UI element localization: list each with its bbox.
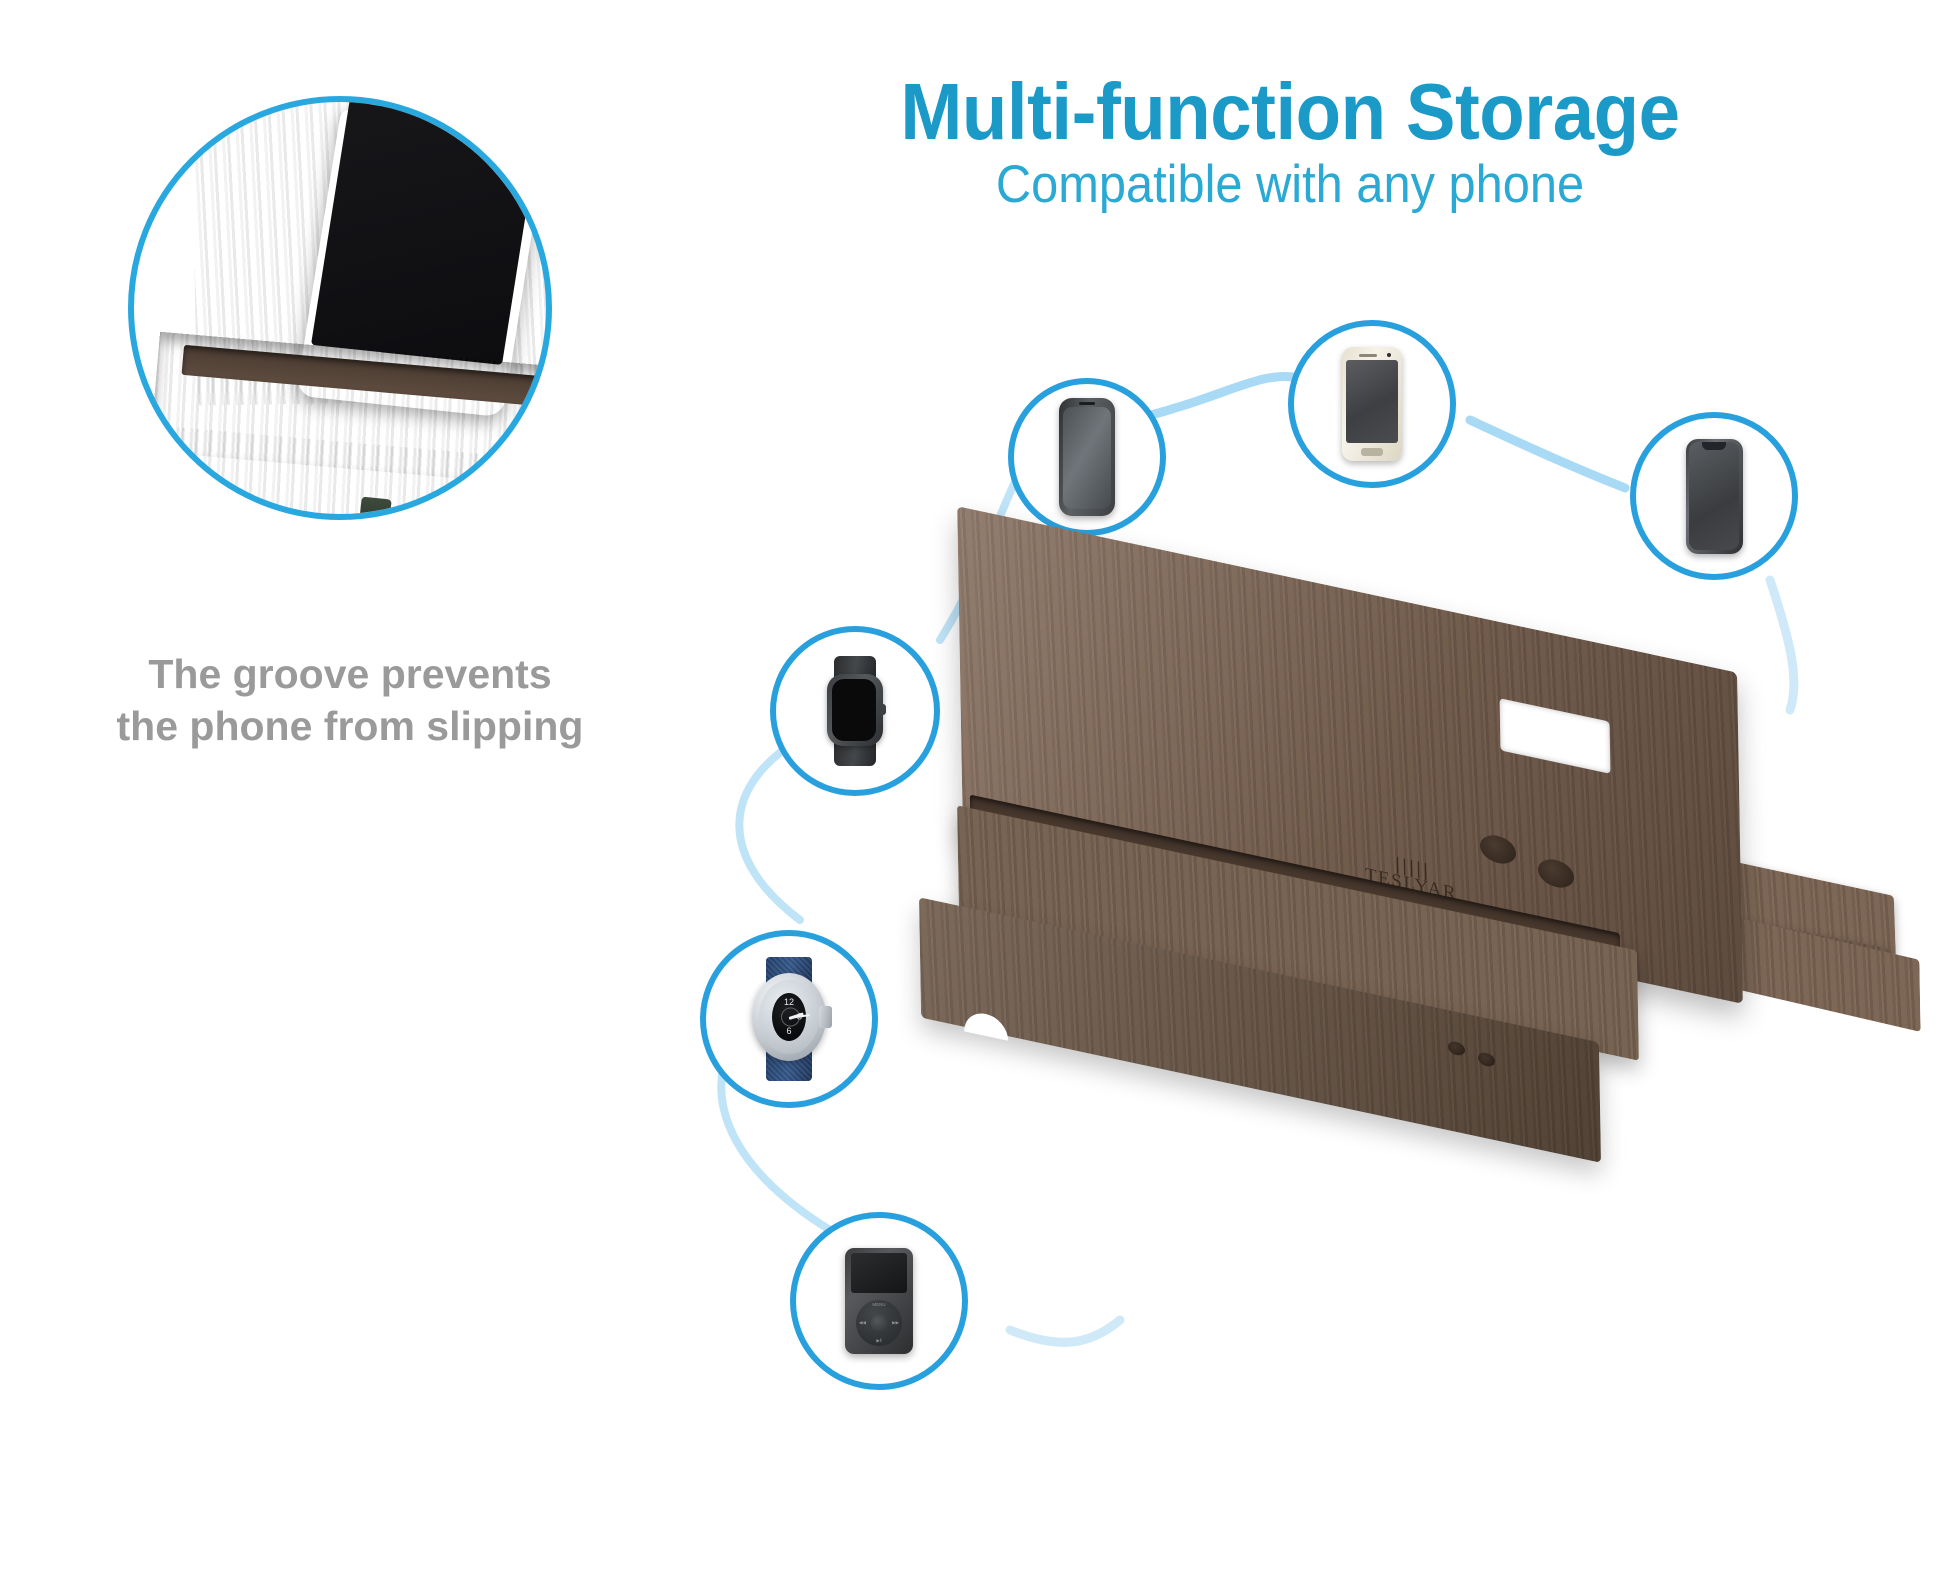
ipod-click-wheel: MENU ◀◀ ▶▶ ▶‖ xyxy=(856,1300,902,1346)
ipod-classic-icon: MENU ◀◀ ▶▶ ▶‖ xyxy=(845,1248,913,1354)
analog-watch-crown-guard xyxy=(819,1006,832,1028)
ipod-screen xyxy=(851,1253,907,1293)
ipod-prev-label: ◀◀ xyxy=(859,1321,866,1326)
heading-block: Multi-function Storage Compatible with a… xyxy=(700,70,1880,214)
white-phone-icon xyxy=(1342,347,1402,461)
inset-phone-screen xyxy=(311,96,542,365)
analog-watch-numeral-6: 6 xyxy=(786,1027,791,1036)
white-phone-home-button xyxy=(1361,448,1383,456)
device-bubble-analog-watch[interactable]: 12 3 6 xyxy=(700,930,878,1108)
apple-watch-case xyxy=(827,674,883,746)
white-phone-screen xyxy=(1346,360,1398,443)
wooden-docking-station: ∣∣∣∣∣ TESLYAR xyxy=(960,590,1946,1400)
analog-watch-case: 12 3 6 xyxy=(752,973,826,1061)
device-bubble-ipod-classic[interactable]: MENU ◀◀ ▶▶ ▶‖ xyxy=(790,1212,968,1390)
ipod-next-label: ▶▶ xyxy=(892,1321,899,1326)
device-bubble-white-phone[interactable] xyxy=(1288,320,1456,488)
analog-watch-dial: 12 3 6 xyxy=(772,993,806,1041)
iphone-x-icon xyxy=(1686,439,1743,554)
apple-watch-screen xyxy=(832,679,876,741)
inset-caption-line-1: The groove prevents xyxy=(70,648,630,700)
white-phone-speaker xyxy=(1359,354,1377,357)
inset-caption: The groove prevents the phone from slipp… xyxy=(70,648,630,752)
device-bubble-apple-watch[interactable] xyxy=(770,626,940,796)
infographic-canvas: Multi-function Storage Compatible with a… xyxy=(0,0,1946,1596)
android-phone-icon xyxy=(1059,398,1115,516)
groove-photo-content xyxy=(134,102,546,514)
iphone-x-screen xyxy=(1689,442,1739,550)
analog-watch-bezel: 12 3 6 xyxy=(759,980,819,1054)
iphone-x-notch xyxy=(1702,442,1726,450)
ipod-menu-label: MENU xyxy=(872,1303,885,1308)
page-subtitle: Compatible with any phone xyxy=(747,156,1833,214)
inset-caption-line-2: the phone from slipping xyxy=(70,700,630,752)
apple-watch-crown xyxy=(879,704,886,715)
analog-watch-icon: 12 3 6 xyxy=(748,957,830,1081)
page-title: Multi-function Storage xyxy=(741,70,1838,154)
analog-watch-numeral-12: 12 xyxy=(784,998,794,1007)
apple-watch-icon xyxy=(822,656,888,766)
device-bubble-iphone-x[interactable] xyxy=(1630,412,1798,580)
white-phone-camera xyxy=(1387,353,1391,357)
ipod-play-label: ▶‖ xyxy=(876,1339,881,1344)
ipod-select-button xyxy=(871,1315,888,1332)
groove-detail-photo xyxy=(128,96,552,520)
device-bubble-android-phone[interactable] xyxy=(1008,378,1166,536)
charging-cable xyxy=(358,497,391,520)
